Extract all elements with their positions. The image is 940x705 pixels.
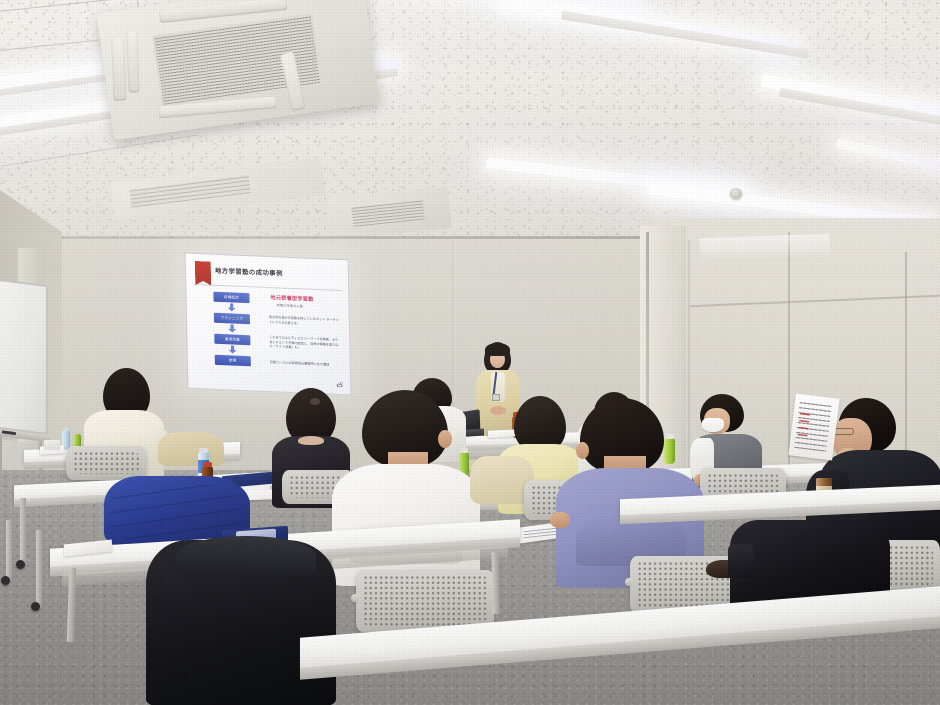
chair-row1-left	[66, 446, 146, 480]
caster-farleft-1	[16, 560, 25, 569]
chair-row3-center	[356, 570, 494, 632]
attendee-a6-hand	[550, 512, 570, 528]
slide-paragraph-3: 月間コース人の新規見込顧客問い合せ増加	[270, 360, 342, 368]
slide-flow-step-2: プランニング	[214, 313, 250, 325]
trouser-leg-right	[728, 544, 754, 578]
slide-flow-step-3: 運用改善	[214, 334, 250, 346]
caster-farleft-2	[31, 602, 40, 611]
table-leg-farleft-2	[36, 530, 42, 608]
slide-title-rule	[194, 284, 342, 291]
coat-black-foreground-shoulder	[176, 536, 316, 576]
coat-beige-row1	[158, 432, 224, 466]
slide-flow-arrow-1	[228, 303, 236, 311]
slide-subhead: 年間の生徒の入塾	[277, 302, 303, 308]
slide-flow-arrow-2	[228, 324, 236, 332]
back-wall-top-edge	[38, 236, 650, 239]
bottle-cap-water-row1	[63, 427, 69, 431]
caster-farleft-3	[1, 576, 10, 585]
face-mask-icon	[702, 418, 724, 432]
table-row3-leg-2	[491, 552, 499, 614]
presenter-hair-front	[485, 343, 510, 356]
slide-flow-arrow-3	[228, 345, 236, 353]
attendee-a2-hair-tie	[310, 398, 320, 405]
presentation-slide: 地方学習塾の成功事例 目標設定 プランニング 運用改善 結果 地元密着型学習塾 …	[185, 252, 352, 395]
slide-flow-step-1: 目標設定	[213, 292, 249, 304]
projection-screen: 地方学習塾の成功事例 目標設定 プランニング 運用改善 結果 地元密着型学習塾 …	[185, 252, 352, 395]
slide-flow-step-4: 結果	[215, 355, 251, 367]
slide-paragraph-1: 競合他社様が学習塾を探しているネット ターゲットにされるお客さま。	[269, 315, 341, 327]
table-leg-farleft-3	[6, 520, 12, 580]
bottle-cap-water-row2	[199, 448, 208, 453]
whiteboard-surface	[0, 278, 48, 435]
slide-paragraph-2: これまで以上にディスカバーワード利用側、より多いクエリで予算内設定に、自然の情報…	[269, 335, 341, 352]
attendee-a2-collar	[298, 436, 324, 445]
attendee-a3-ear	[438, 430, 452, 448]
bottle-cap-tea-row2	[203, 462, 212, 467]
tissue-box-row1	[44, 440, 60, 450]
table-leg-farleft-1	[20, 498, 26, 564]
sprinkler-head-icon	[730, 188, 742, 199]
slide-ribbon-icon	[195, 261, 211, 286]
seminar-room-photo: 地方学習塾の成功事例 目標設定 プランニング 運用改善 結果 地元密着型学習塾 …	[0, 0, 940, 705]
slide-title: 地方学習塾の成功事例	[215, 266, 283, 278]
right-wall-light-reflection	[700, 234, 831, 263]
attendee-a6-ear	[576, 442, 589, 459]
